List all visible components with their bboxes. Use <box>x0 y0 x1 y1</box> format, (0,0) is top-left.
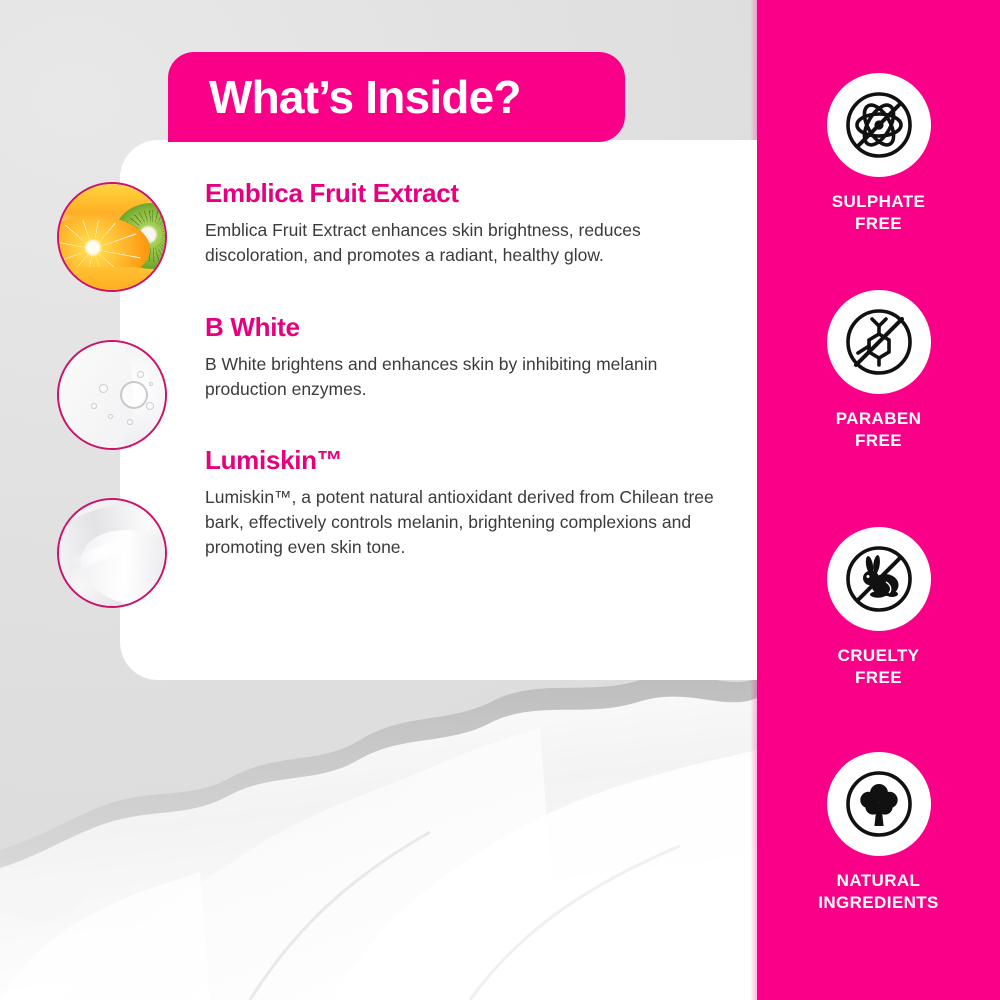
ingredient-item-lumiskin: Lumiskin™ Lumiskin™, a potent natural an… <box>205 445 725 560</box>
page-title: What’s Inside? <box>209 74 521 120</box>
badge-circle <box>827 752 931 856</box>
badge-label-line2: FREE <box>757 430 1000 452</box>
ingredient-name: B White <box>205 312 725 343</box>
ingredient-description: Lumiskin™, a potent natural antioxidant … <box>205 485 715 560</box>
ingredient-thumbnail-lumiskin <box>57 498 167 608</box>
clear-gel-serum-bubbles-photo <box>59 342 165 448</box>
no-cruelty-rabbit-icon <box>842 542 916 616</box>
ingredient-thumbnail-emblica-fruit-extract <box>57 182 167 292</box>
ingredient-description: B White brightens and enhances skin by i… <box>205 352 715 402</box>
badge-label: SULPHATE FREE <box>757 191 1000 235</box>
badge-natural-ingredients: NATURAL INGREDIENTS <box>757 752 1000 914</box>
ingredient-item-emblica-fruit-extract: Emblica Fruit Extract Emblica Fruit Extr… <box>205 178 725 268</box>
badge-label-line1: NATURAL <box>757 870 1000 892</box>
badge-paraben-free: PARABEN FREE <box>757 290 1000 452</box>
badge-label-line2: FREE <box>757 667 1000 689</box>
badge-label: NATURAL INGREDIENTS <box>757 870 1000 914</box>
natural-tree-icon <box>842 767 916 841</box>
badge-label-line2: FREE <box>757 213 1000 235</box>
ingredients-list: Emblica Fruit Extract Emblica Fruit Extr… <box>205 178 725 560</box>
ingredient-item-b-white: B White B White brightens and enhances s… <box>205 312 725 402</box>
ingredient-name: Emblica Fruit Extract <box>205 178 725 209</box>
badge-label: PARABEN FREE <box>757 408 1000 452</box>
badge-circle <box>827 73 931 177</box>
badge-label-line1: PARABEN <box>757 408 1000 430</box>
ingredient-name: Lumiskin™ <box>205 445 725 476</box>
product-ingredients-infographic: What’s Inside? <box>0 0 1000 1000</box>
badge-sulphate-free: SULPHATE FREE <box>757 73 1000 235</box>
ingredient-description: Emblica Fruit Extract enhances skin brig… <box>205 218 715 268</box>
badge-label: CRUELTY FREE <box>757 645 1000 689</box>
claims-badge-list: SULPHATE FREE <box>757 0 1000 1000</box>
badge-cruelty-free: CRUELTY FREE <box>757 527 1000 689</box>
ingredient-thumbnail-b-white <box>57 340 167 450</box>
title-banner: What’s Inside? <box>168 52 625 142</box>
no-sulphate-atom-icon <box>842 88 916 162</box>
badge-label-line1: CRUELTY <box>757 645 1000 667</box>
no-paraben-molecule-icon <box>842 305 916 379</box>
badge-circle <box>827 527 931 631</box>
badge-label-line2: INGREDIENTS <box>757 892 1000 914</box>
orange-kiwi-fruit-slices-photo <box>59 184 165 290</box>
badge-circle <box>827 290 931 394</box>
white-cream-swirl-texture-photo <box>59 500 165 606</box>
badge-label-line1: SULPHATE <box>757 191 1000 213</box>
